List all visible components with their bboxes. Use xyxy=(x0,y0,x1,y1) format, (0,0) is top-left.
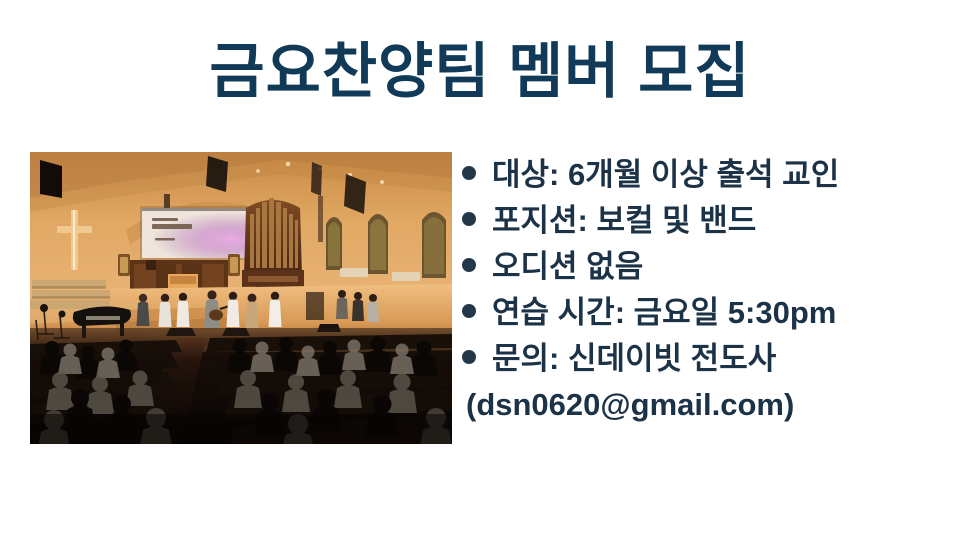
bullet-dot-icon xyxy=(462,166,476,180)
slide-canvas: 금요찬양팀 멤버 모집 xyxy=(0,0,960,540)
list-item-label: 오디션 없음 xyxy=(492,244,643,290)
details-bullet-list: 대상: 6개월 이상 출석 교인 포지션: 보컬 및 밴드 오디션 없음 연습 … xyxy=(462,152,948,382)
list-item-label: 포지션: 보컬 및 밴드 xyxy=(492,198,756,244)
contact-email: (dsn0620@gmail.com) xyxy=(466,382,794,428)
page-title: 금요찬양팀 멤버 모집 xyxy=(0,36,960,108)
list-item: 포지션: 보컬 및 밴드 xyxy=(462,198,948,244)
list-item-label: 문의: 신데이빗 전도사 xyxy=(492,336,776,382)
bullet-dot-icon xyxy=(462,304,476,318)
bullet-dot-icon xyxy=(462,258,476,272)
list-item: 문의: 신데이빗 전도사 xyxy=(462,336,948,382)
bullet-dot-icon xyxy=(462,212,476,226)
sanctuary-photo xyxy=(30,152,452,444)
list-item: 오디션 없음 xyxy=(462,244,948,290)
bullet-dot-icon xyxy=(462,350,476,364)
list-item: 대상: 6개월 이상 출석 교인 xyxy=(462,152,948,198)
list-item-label: 연습 시간: 금요일 5:30pm xyxy=(492,290,836,336)
list-item: 연습 시간: 금요일 5:30pm xyxy=(462,290,948,336)
list-item-label: 대상: 6개월 이상 출석 교인 xyxy=(492,152,839,198)
sanctuary-photo-graphic xyxy=(30,152,452,444)
pipe-organ-icon xyxy=(242,198,304,298)
